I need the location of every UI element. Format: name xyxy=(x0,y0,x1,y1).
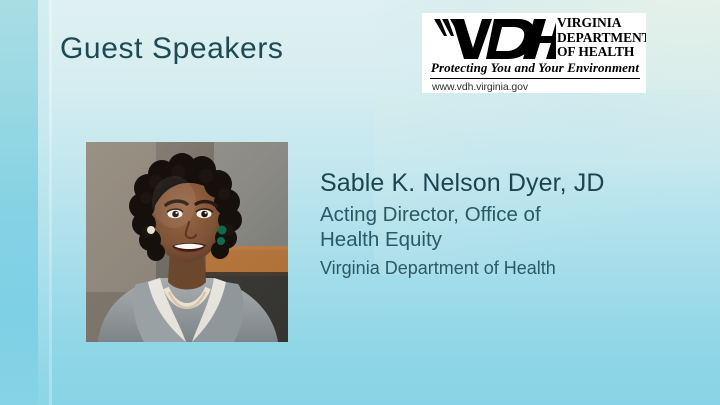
speaker-role: Acting Director, Office of Health Equity xyxy=(320,202,590,252)
speaker-name: Sable K. Nelson Dyer, JD xyxy=(320,168,680,199)
speaker-organization: Virginia Department of Health xyxy=(320,257,680,280)
vdh-logo: VIRGINIA DEPARTMENT OF HEALTH Protecting… xyxy=(422,13,646,93)
vdh-wordmark-icon xyxy=(428,15,556,61)
slide-guest-speakers: Guest Speakers xyxy=(0,0,720,405)
vdh-logo-wordlines: VIRGINIA DEPARTMENT OF HEALTH xyxy=(557,15,646,60)
left-accent-highlight xyxy=(49,0,52,405)
speaker-details: Sable K. Nelson Dyer, JD Acting Director… xyxy=(320,168,680,280)
vdh-logo-divider xyxy=(430,78,640,79)
vdh-logo-top-row: VIRGINIA DEPARTMENT OF HEALTH xyxy=(428,15,642,61)
left-accent-band xyxy=(0,0,38,405)
vdh-logo-tagline: Protecting You and Your Environment xyxy=(428,60,642,76)
vdh-logo-line-1: VIRGINIA xyxy=(557,16,646,31)
speaker-photo xyxy=(86,142,288,342)
page-title: Guest Speakers xyxy=(60,32,284,66)
vdh-logo-line-3: OF HEALTH xyxy=(557,45,646,60)
left-accent-stripe xyxy=(38,0,49,405)
vdh-logo-line-2: DEPARTMENT xyxy=(557,31,646,46)
vdh-logo-url: www.vdh.virginia.gov xyxy=(428,81,642,93)
